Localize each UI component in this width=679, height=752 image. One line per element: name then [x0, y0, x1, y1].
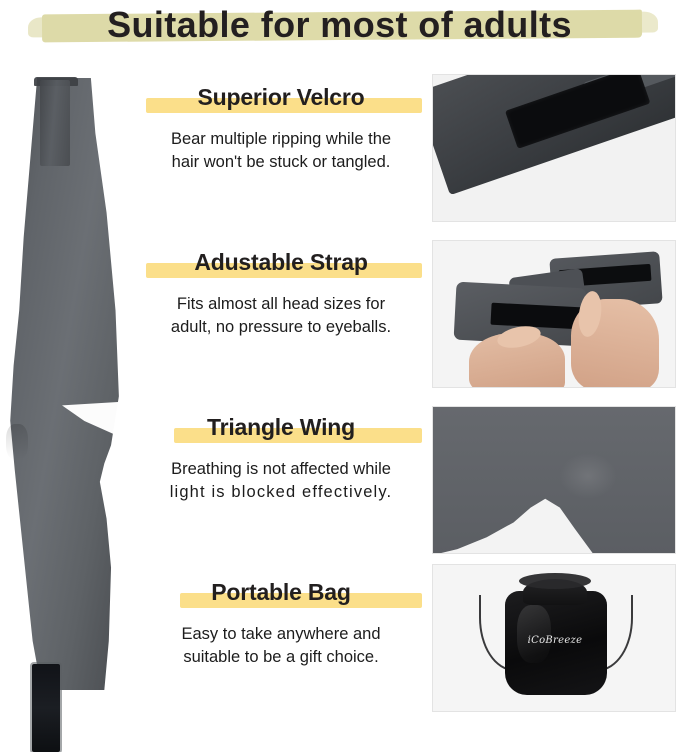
sleep-mask-body: [8, 78, 120, 690]
thumbnail-black-drawstring-pouch: iCoBreeze: [432, 564, 676, 712]
feature-description: Bear multiple ripping while the hair won…: [132, 128, 430, 175]
feature-description-line-2: adult, no pressure to eyeballs.: [132, 316, 430, 339]
feature-description-line-2: light is blocked effectively.: [132, 481, 430, 504]
feature-heading-wrap: Portable Bag: [132, 573, 430, 611]
feature-item-portable-bag: Portable Bag Easy to take anywhere and s…: [132, 573, 430, 701]
page-header: Suitable for most of adults: [0, 0, 679, 58]
feature-item-superior-velcro: Superior Velcro Bear multiple ripping wh…: [132, 78, 430, 206]
thumbnail-hands-holding-strap-ends: [432, 240, 676, 388]
feature-heading: Superior Velcro: [197, 84, 364, 111]
feature-description-line-1: Bear multiple ripping while the: [132, 128, 430, 151]
feature-heading-wrap: Adustable Strap: [132, 243, 430, 281]
feature-list: Superior Velcro Bear multiple ripping wh…: [132, 78, 430, 698]
feature-heading: Triangle Wing: [207, 414, 355, 441]
mask-top-strap: [40, 80, 70, 166]
feature-item-adustable-strap: Adustable Strap Fits almost all head siz…: [132, 243, 430, 371]
feature-description: Breathing is not affected while light is…: [132, 458, 430, 505]
feature-description: Fits almost all head sizes for adult, no…: [132, 293, 430, 340]
feature-heading-wrap: Triangle Wing: [132, 408, 430, 446]
feature-description-line-1: Breathing is not affected while: [132, 458, 430, 481]
product-hero-image: [0, 72, 130, 696]
thumbnail-velcro-strip-closeup: [432, 74, 676, 222]
feature-heading: Portable Bag: [211, 579, 350, 606]
mask-velcro-patch: [32, 664, 60, 752]
feature-description-line-1: Easy to take anywhere and: [132, 623, 430, 646]
mask-crease-shadow: [6, 424, 28, 460]
feature-description-line-2: hair won't be stuck or tangled.: [132, 151, 430, 174]
thumbnail-nose-wing-closeup: [432, 406, 676, 554]
pouch-ruffle-top: [519, 573, 591, 589]
feature-heading: Adustable Strap: [194, 249, 367, 276]
pouch-sheen: [517, 605, 551, 663]
fabric-highlight: [559, 453, 617, 499]
feature-description-line-2: suitable to be a gift choice.: [132, 646, 430, 669]
feature-description: Easy to take anywhere and suitable to be…: [132, 623, 430, 670]
feature-heading-wrap: Superior Velcro: [132, 78, 430, 116]
feature-item-triangle-wing: Triangle Wing Breathing is not affected …: [132, 408, 430, 536]
velcro-patch-left: [490, 303, 581, 330]
page-title: Suitable for most of adults: [0, 0, 679, 50]
feature-description-line-1: Fits almost all head sizes for: [132, 293, 430, 316]
pouch-brand-logo: iCoBreeze: [433, 635, 676, 646]
